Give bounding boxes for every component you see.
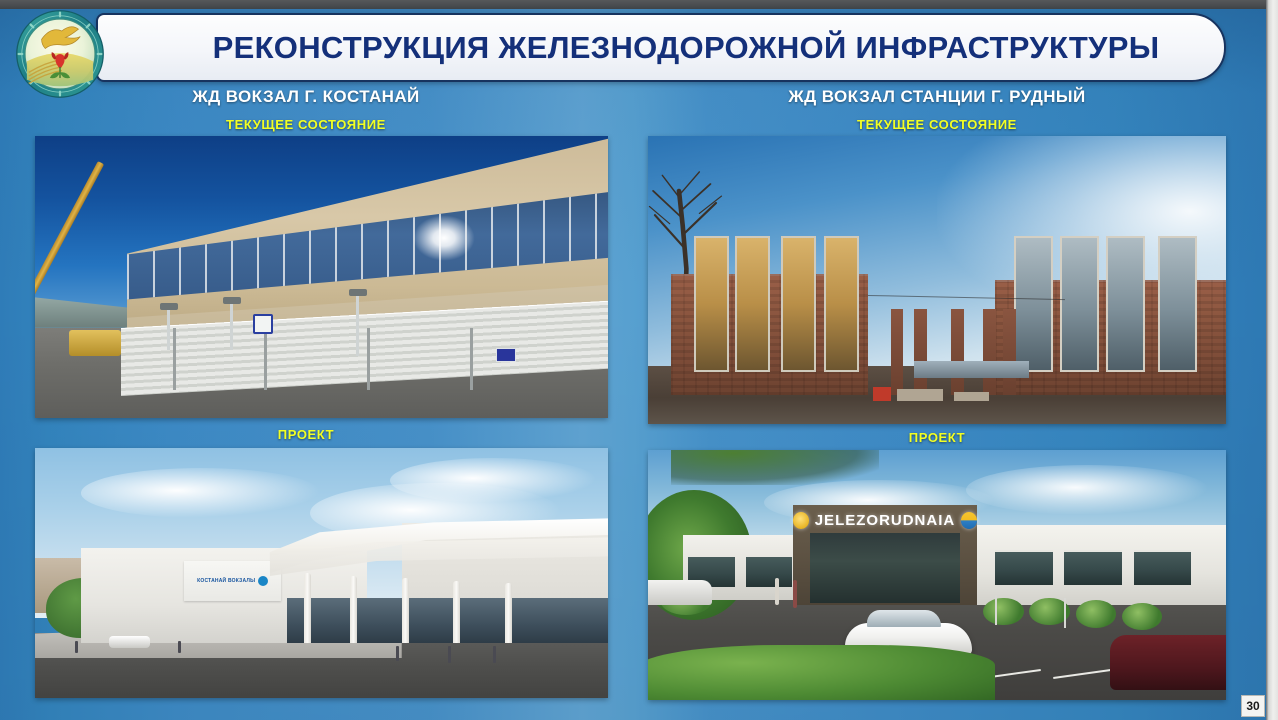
photo-rudny-project: JELEZORUDNAIA [648, 450, 1226, 700]
station-sign: JELEZORUDNAIA [793, 508, 978, 533]
canopy-column [350, 576, 357, 644]
canopy-column [402, 578, 409, 643]
canopy-column [304, 573, 311, 643]
cloud [81, 468, 322, 518]
construction-debris [897, 389, 943, 401]
brick-pier [983, 309, 996, 395]
window-scrollbar-strip[interactable] [1266, 0, 1278, 720]
region-emblem-icon [14, 8, 106, 100]
pedestrian [493, 646, 496, 664]
station-sign-text: JELEZORUDNAIA [815, 512, 956, 529]
pedestrian [178, 641, 181, 654]
shrub [1076, 600, 1116, 628]
photo-rudny-current [648, 136, 1226, 424]
car-dark-red [1110, 635, 1226, 690]
pedestrian [775, 578, 779, 606]
sun-glare [413, 215, 475, 261]
street-lamp [230, 302, 233, 350]
window [1106, 236, 1145, 372]
hedge-foreground [648, 645, 995, 700]
slide-title-banner: РЕКОНСТРУКЦИЯ ЖЕЛЕЗНОДОРОЖНОЙ ИНФРАСТРУК… [96, 13, 1226, 82]
fence-post [173, 328, 176, 390]
car-parked-left [648, 580, 712, 605]
canopy-column [505, 583, 512, 643]
window [746, 555, 792, 587]
brick-pier [1003, 309, 1016, 395]
presentation-slide: РЕКОНСТРУКЦИЯ ЖЕЛЕЗНОДОРОЖНОЙ ИНФРАСТРУК… [0, 0, 1278, 720]
page-number: 30 [1241, 695, 1265, 717]
photo-kostanay-project: КОСТАНАЙ ВОКЗАЛЫ [35, 448, 608, 698]
window [694, 236, 729, 372]
window [1134, 550, 1192, 585]
tree-branch [671, 450, 879, 485]
street-lamp [167, 308, 170, 350]
pedestrian [75, 641, 78, 654]
pedestrian-crossing-sign [253, 314, 273, 334]
ktzh-logo-icon [961, 512, 977, 529]
street-lamp [356, 294, 359, 356]
pedestrian [448, 646, 451, 664]
fence-post [367, 328, 370, 390]
window [995, 550, 1053, 585]
label-project-kostanay: ПРОЕКТ [0, 427, 612, 442]
construction-debris [954, 392, 989, 401]
lamp-post [1064, 598, 1066, 628]
window [1158, 236, 1197, 372]
pedestrian [396, 646, 399, 661]
brick-pier [891, 309, 904, 395]
window-titlebar-edge [0, 0, 1278, 9]
station-sign-text: КОСТАНАЙ ВОКЗАЛЫ [197, 578, 255, 584]
canopy-column [453, 581, 460, 644]
cloud [966, 465, 1209, 515]
fence-placard [496, 348, 516, 362]
window [1060, 236, 1099, 372]
window [781, 236, 816, 372]
page-title: РЕКОНСТРУКЦИЯ ЖЕЛЕЗНОДОРОЖНОЙ ИНФРАСТРУК… [163, 30, 1160, 66]
label-current-state-kostanay: ТЕКУЩЕЕ СОСТОЯНИЕ [0, 117, 612, 132]
photo-kostanay-current [35, 136, 608, 418]
shrub [1122, 603, 1162, 631]
window [1014, 236, 1053, 372]
car [109, 636, 149, 649]
label-current-state-rudny: ТЕКУЩЕЕ СОСТОЯНИЕ [648, 117, 1226, 132]
construction-material [873, 387, 890, 401]
column-heading-rudny: ЖД ВОКЗАЛ СТАНЦИИ Г. РУДНЫЙ [648, 87, 1226, 107]
shrub [983, 598, 1023, 626]
lamp-post [995, 595, 997, 625]
entrance-glazing [810, 533, 960, 603]
station-sign: КОСТАНАЙ ВОКЗАЛЫ [184, 561, 281, 601]
railcar [914, 361, 1030, 378]
emblem-icon [793, 512, 809, 529]
pedestrian [793, 580, 797, 608]
window [735, 236, 770, 372]
brick-pier [951, 309, 964, 395]
brick-pier [914, 309, 927, 395]
window [824, 236, 859, 372]
ktzh-logo-icon [258, 576, 268, 586]
entrance-glazing [287, 598, 608, 643]
fence-post [470, 328, 473, 390]
fence-post [264, 328, 267, 390]
crane-cabin [69, 330, 121, 356]
window [1064, 550, 1122, 585]
label-project-rudny: ПРОЕКТ [648, 430, 1226, 445]
cloud [390, 458, 596, 503]
